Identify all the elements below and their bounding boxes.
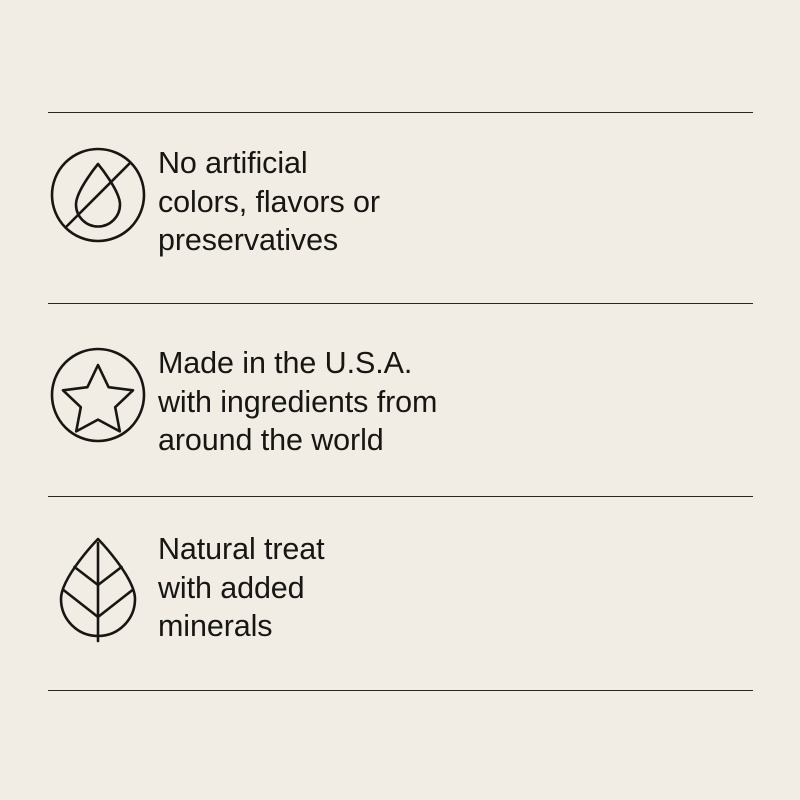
- feature-text-line: around the world: [158, 421, 753, 460]
- divider-2: [48, 496, 753, 497]
- feature-text-natural-treat: Natural treat with added minerals: [158, 529, 753, 646]
- feature-row-no-artificial: No artificial colors, flavors or preserv…: [48, 143, 753, 260]
- feature-text-line: No artificial: [158, 144, 753, 183]
- divider-top: [48, 112, 753, 113]
- feature-row-made-in-usa: Made in the U.S.A. with ingredients from…: [48, 343, 753, 460]
- divider-bottom: [48, 690, 753, 691]
- feature-text-line: Natural treat: [158, 530, 753, 569]
- feature-text-line: Made in the U.S.A.: [158, 344, 753, 383]
- feature-text-line: colors, flavors or: [158, 183, 753, 222]
- no-artificial-droplet-icon: [48, 143, 158, 245]
- feature-row-natural-treat: Natural treat with added minerals: [48, 529, 753, 646]
- star-in-circle-icon: [48, 343, 158, 445]
- product-benefits-panel: No artificial colors, flavors or preserv…: [0, 0, 800, 800]
- feature-text-line: minerals: [158, 607, 753, 646]
- feature-text-line: preservatives: [158, 221, 753, 260]
- feature-text-line: with added: [158, 569, 753, 608]
- feature-text-line: with ingredients from: [158, 383, 753, 422]
- feature-text-no-artificial: No artificial colors, flavors or preserv…: [158, 143, 753, 260]
- divider-1: [48, 303, 753, 304]
- leaf-icon: [48, 529, 158, 645]
- feature-text-made-in-usa: Made in the U.S.A. with ingredients from…: [158, 343, 753, 460]
